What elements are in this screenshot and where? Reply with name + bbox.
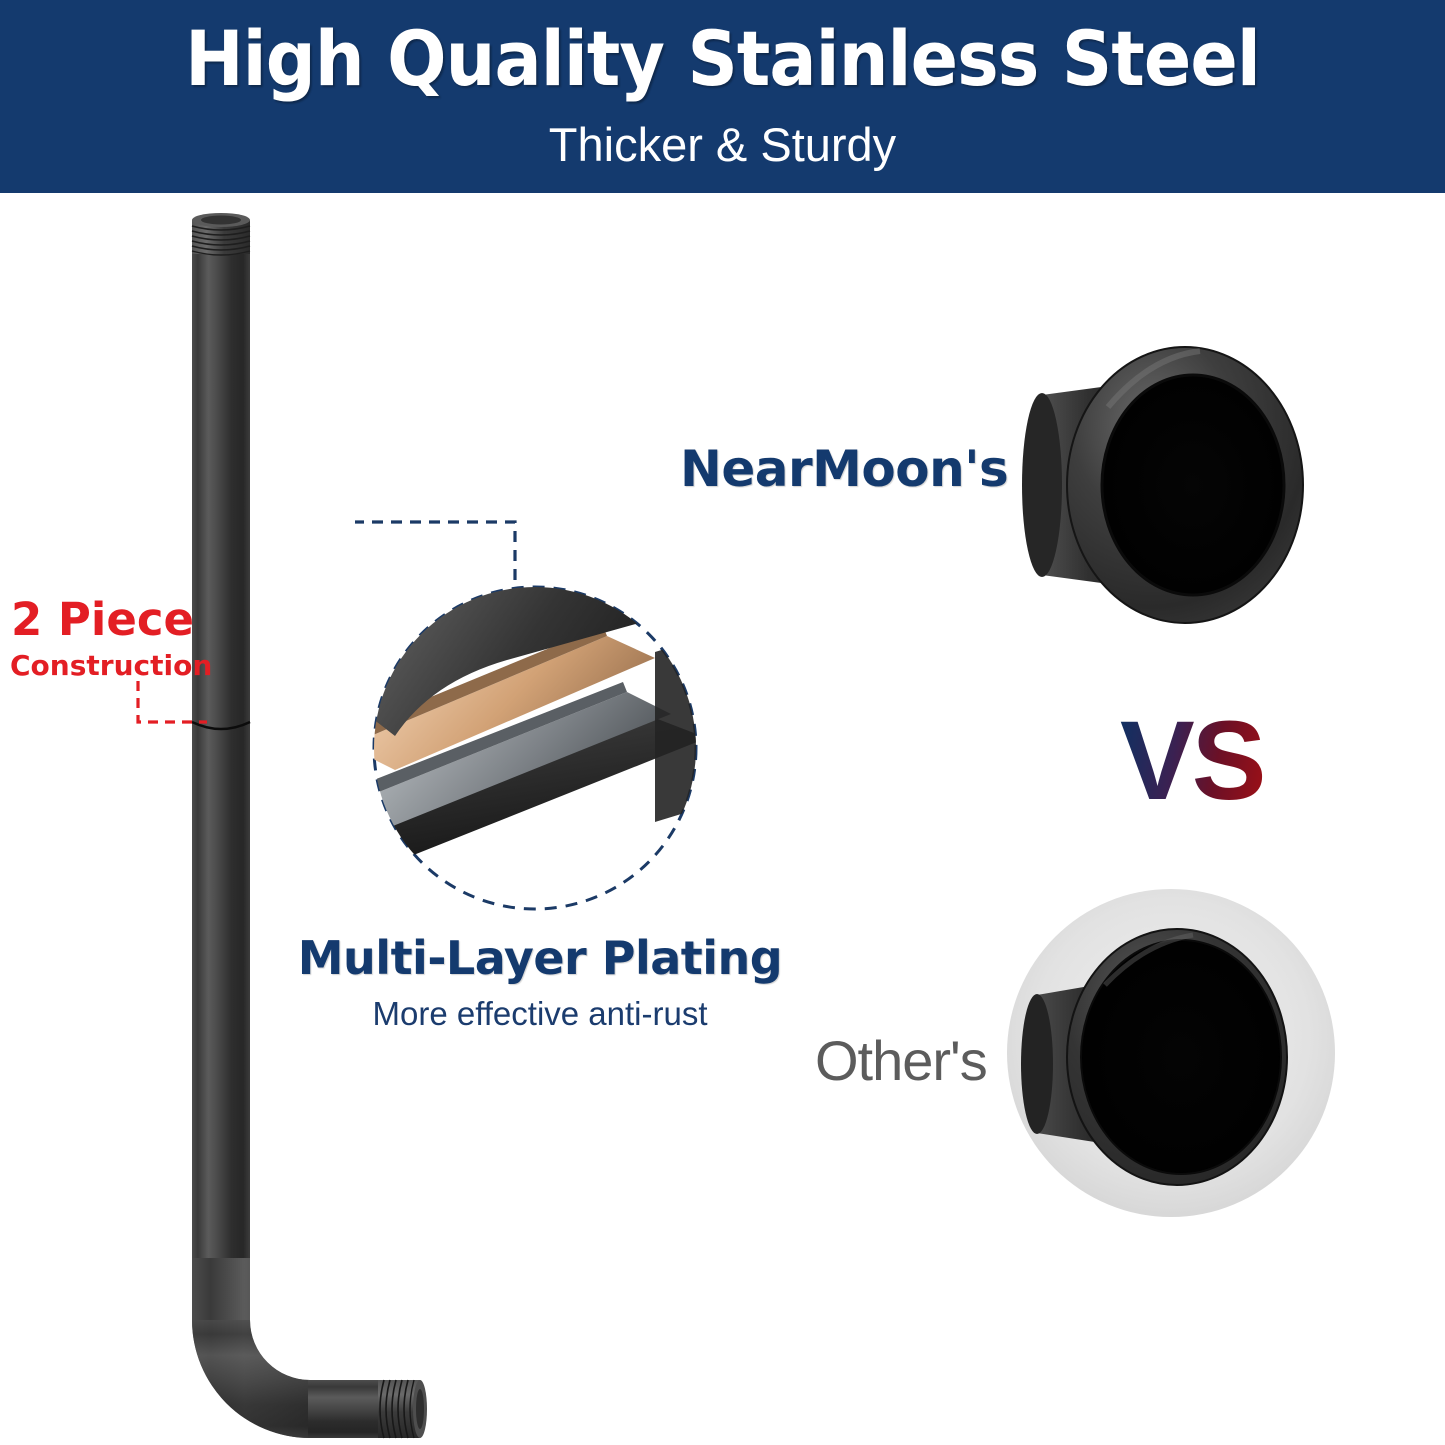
nearmoon-label: NearMoon's (680, 440, 1008, 498)
pipe-vertical-shaft (192, 248, 250, 1258)
pipe-far-edge (1022, 393, 1062, 577)
header-banner: High Quality Stainless Steel Thicker & S… (0, 0, 1445, 193)
plating-caption: Multi-Layer Plating More effective anti-… (230, 930, 850, 1036)
vs-label: VS (1120, 705, 1263, 817)
infographic-canvas: High Quality Stainless Steel Thicker & S… (0, 0, 1445, 1445)
others-label: Other's (815, 1028, 987, 1093)
pipe-elbow-shading (192, 1320, 310, 1438)
plating-cutaway-illustration (355, 500, 715, 930)
pipe-far-edge (1021, 994, 1053, 1134)
plating-title: Multi-Layer Plating (230, 930, 850, 986)
thick-wall-pipe-illustration (1000, 335, 1340, 635)
page-title: High Quality Stainless Steel (58, 14, 1387, 103)
plating-callout (355, 500, 715, 930)
two-piece-callout: 2 Piece Construction (10, 595, 195, 683)
page-subtitle: Thicker & Sturdy (0, 117, 1445, 172)
two-piece-title: 2 Piece (10, 595, 195, 645)
plating-subtitle: More effective anti-rust (230, 992, 850, 1036)
thin-wall-pipe-illustration (975, 885, 1350, 1245)
nearmoon-pipe-end-image (1000, 335, 1340, 635)
pipe-horizontal-run (308, 1380, 386, 1438)
pipe-outlet-threads (378, 1380, 427, 1438)
plating-leader-line (355, 522, 515, 587)
pipe-top-threads (192, 213, 250, 255)
pipe-bore-opening (1081, 940, 1281, 1174)
pipe-continuation (655, 630, 715, 822)
others-pipe-end-image (975, 885, 1350, 1245)
two-piece-leader-line (125, 675, 215, 740)
